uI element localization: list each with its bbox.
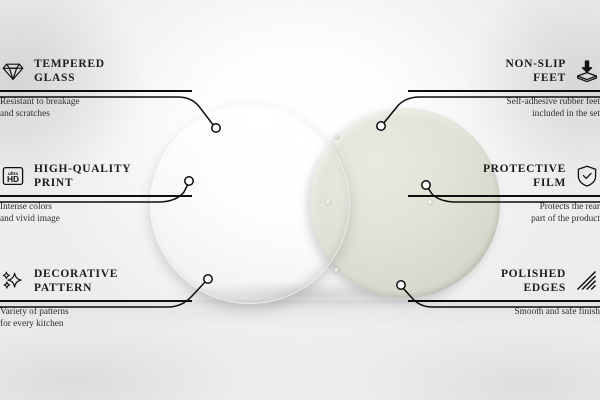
feature-divider bbox=[0, 90, 192, 92]
feature-high-quality-print: ultra HD HIGH-QUALITY PRINT Intense colo… bbox=[0, 162, 192, 226]
feature-description: Smooth and safe finish bbox=[408, 306, 600, 319]
feature-divider bbox=[408, 300, 600, 302]
feature-header: NON-SLIP FEET bbox=[408, 57, 600, 85]
feature-description: Variety of patterns for every kitchen bbox=[0, 306, 192, 332]
feature-title: POLISHED EDGES bbox=[501, 267, 566, 295]
arrow-onto-pad-icon bbox=[574, 58, 600, 84]
feature-header: TEMPERED GLASS bbox=[0, 57, 192, 85]
diamond-icon bbox=[0, 58, 26, 84]
feature-divider bbox=[408, 195, 600, 197]
rubber-foot bbox=[334, 268, 339, 273]
feature-header: POLISHED EDGES bbox=[408, 267, 600, 295]
feature-tempered-glass: TEMPERED GLASS Resistant to breakage and… bbox=[0, 57, 192, 121]
feature-title: PROTECTIVE FILM bbox=[483, 162, 566, 190]
feature-description: Resistant to breakage and scratches bbox=[0, 96, 192, 122]
svg-text:HD: HD bbox=[7, 174, 19, 184]
feature-description: Protects the rear part of the product bbox=[408, 201, 600, 227]
infographic-canvas: TEMPERED GLASS Resistant to breakage and… bbox=[0, 0, 600, 400]
feature-header: ultra HD HIGH-QUALITY PRINT bbox=[0, 162, 192, 190]
feature-title: HIGH-QUALITY PRINT bbox=[34, 162, 131, 190]
feature-divider bbox=[0, 195, 192, 197]
feature-divider bbox=[408, 90, 600, 92]
feature-title: TEMPERED GLASS bbox=[34, 57, 105, 85]
feature-non-slip-feet: NON-SLIP FEET Self-adhesive rubber feet … bbox=[408, 57, 600, 121]
rubber-foot bbox=[334, 134, 339, 139]
feature-protective-film: PROTECTIVE FILM Protects the rear part o… bbox=[408, 162, 600, 226]
feature-header: PROTECTIVE FILM bbox=[408, 162, 600, 190]
feature-title: NON-SLIP FEET bbox=[505, 57, 566, 85]
feature-polished-edges: POLISHED EDGES Smooth and safe finish bbox=[408, 267, 600, 318]
feature-description: Intense colors and vivid image bbox=[0, 201, 192, 227]
feature-decorative-pattern: DECORATIVE PATTERN Variety of patterns f… bbox=[0, 267, 192, 331]
feature-divider bbox=[0, 300, 192, 302]
feature-description: Self-adhesive rubber feet included in th… bbox=[408, 96, 600, 122]
shield-check-icon bbox=[574, 163, 600, 189]
feature-header: DECORATIVE PATTERN bbox=[0, 267, 192, 295]
feature-title: DECORATIVE PATTERN bbox=[34, 267, 118, 295]
sparkles-icon bbox=[0, 268, 26, 294]
diagonal-lines-icon bbox=[574, 268, 600, 294]
ultra-hd-icon: ultra HD bbox=[0, 163, 26, 189]
